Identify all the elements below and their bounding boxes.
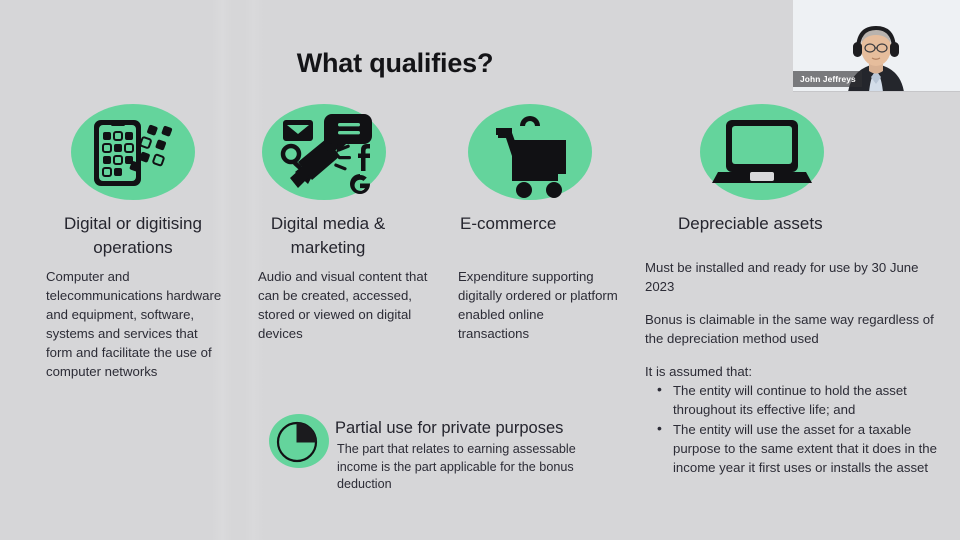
list-item: The entity will use the asset for a taxa… xyxy=(645,420,945,477)
partial-use-body: The part that relates to earning assessa… xyxy=(337,441,602,494)
participant-name-label: John Jeffreys xyxy=(793,71,862,87)
depreciable-paragraph-install: Must be installed and ready for use by 3… xyxy=(645,258,945,296)
laptop-icon xyxy=(700,104,824,200)
column-heading-digital-media: Digital media & marketing xyxy=(248,212,408,260)
smartphone-apps-icon xyxy=(71,104,195,200)
depreciable-paragraph-bonus: Bonus is claimable in the same way regar… xyxy=(645,310,945,348)
column-body-digital-operations: Computer and telecommunications hardware… xyxy=(46,267,226,381)
shopping-cart-icon xyxy=(468,104,592,200)
assumed-intro: It is assumed that: xyxy=(645,362,945,381)
column-heading-depreciable-assets: Depreciable assets xyxy=(678,212,898,236)
pie-chart-icon xyxy=(269,414,329,468)
page-title: What qualifies? xyxy=(0,48,790,79)
column-body-depreciable-assets: Must be installed and ready for use by 3… xyxy=(645,258,945,478)
column-body-ecommerce: Expenditure supporting digitally ordered… xyxy=(458,267,618,343)
column-heading-ecommerce: E-commerce xyxy=(460,212,600,236)
partial-use-heading: Partial use for private purposes xyxy=(335,417,563,439)
column-heading-digital-operations: Digital or digitising operations xyxy=(32,212,234,260)
column-body-digital-media: Audio and visual content that can be cre… xyxy=(258,267,428,343)
megaphone-marketing-icon xyxy=(262,104,386,200)
assumed-bullet-list: The entity will continue to hold the ass… xyxy=(645,381,945,477)
list-item: The entity will continue to hold the ass… xyxy=(645,381,945,419)
video-participant-tile[interactable]: John JeffreysTax John Jeffreys xyxy=(793,0,960,92)
